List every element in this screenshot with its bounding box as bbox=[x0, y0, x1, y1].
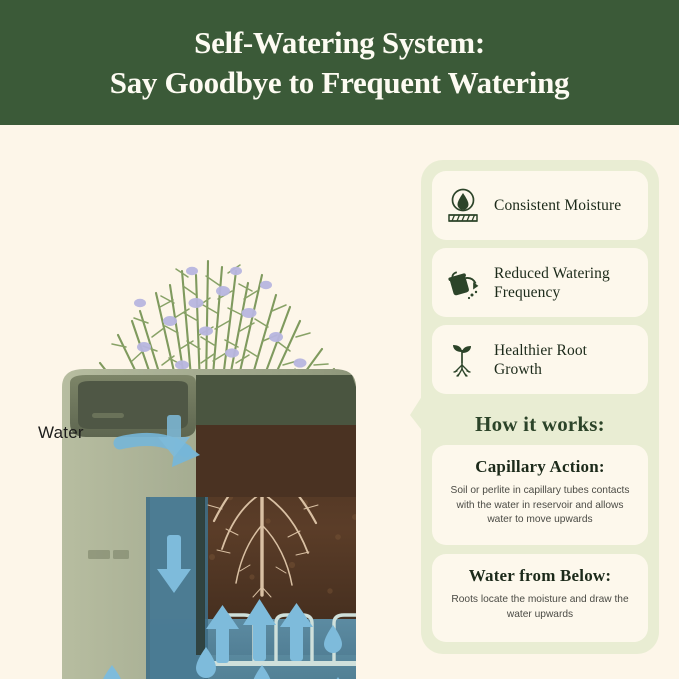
water-label: Water bbox=[38, 423, 84, 443]
brand-mark bbox=[88, 550, 129, 559]
feature-label-1: Reduced Watering Frequency bbox=[494, 264, 638, 302]
feature-label-0: Consistent Moisture bbox=[494, 196, 621, 215]
how-it-works-item-title-0: Capillary Action: bbox=[446, 457, 634, 477]
how-it-works-item-body-0: Soil or perlite in capillary tubes conta… bbox=[446, 484, 634, 528]
how-it-works-card-water-from-below[interactable]: Water from Below: Roots locate the moist… bbox=[432, 554, 648, 642]
seedling-root-icon bbox=[446, 341, 480, 379]
feature-card-healthier-roots[interactable]: Healthier Root Growth bbox=[432, 325, 648, 394]
page-title-line-2: Say Goodbye to Frequent Watering bbox=[110, 64, 569, 102]
watering-can-icon bbox=[446, 264, 480, 302]
how-it-works-card-capillary-action[interactable]: Capillary Action: Soil or perlite in cap… bbox=[432, 445, 648, 545]
how-it-works-title: How it works: bbox=[421, 412, 659, 437]
feature-card-consistent-moisture[interactable]: Consistent Moisture bbox=[432, 171, 648, 240]
benefits-panel: Consistent Moisture bbox=[421, 160, 659, 654]
how-it-works-item-title-1: Water from Below: bbox=[446, 566, 634, 586]
content-stage: Water Consistent Moisture bbox=[0, 125, 679, 679]
planter-illustration: Water bbox=[0, 125, 410, 679]
moisture-drop-icon bbox=[446, 187, 480, 225]
upward-capillary-arrows bbox=[206, 599, 313, 663]
page-title-line-1: Self-Watering System: bbox=[194, 24, 485, 62]
planter-cutaway-svg bbox=[0, 125, 410, 679]
how-it-works-item-body-1: Roots locate the moisture and draw the w… bbox=[446, 593, 634, 622]
feature-label-2: Healthier Root Growth bbox=[494, 341, 638, 379]
feature-card-reduced-watering[interactable]: Reduced Watering Frequency bbox=[432, 248, 648, 317]
page-header: Self-Watering System: Say Goodbye to Fre… bbox=[0, 0, 679, 125]
